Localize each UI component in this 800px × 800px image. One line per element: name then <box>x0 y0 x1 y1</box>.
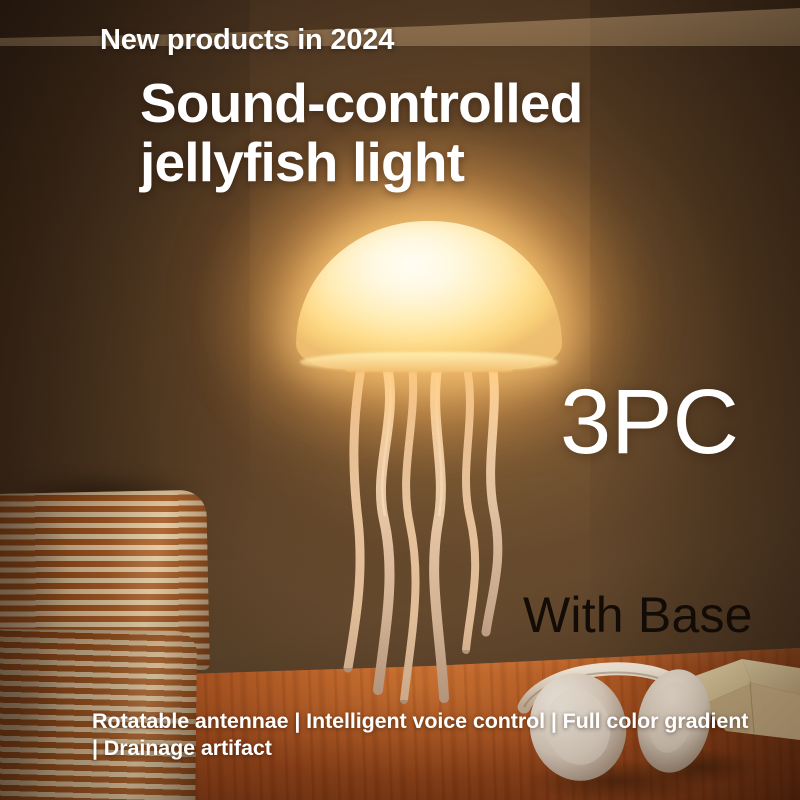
quantity-badge: 3PC <box>560 370 739 475</box>
headline-text: Sound-controlled jellyfish light <box>140 74 582 192</box>
promo-image-canvas: New products in 2024 Sound-controlled je… <box>0 0 800 800</box>
with-base-badge: With Base <box>523 586 753 644</box>
eyebrow-text: New products in 2024 <box>100 24 394 57</box>
feature-list-text: Rotatable antennae | Intelligent voice c… <box>92 708 752 762</box>
